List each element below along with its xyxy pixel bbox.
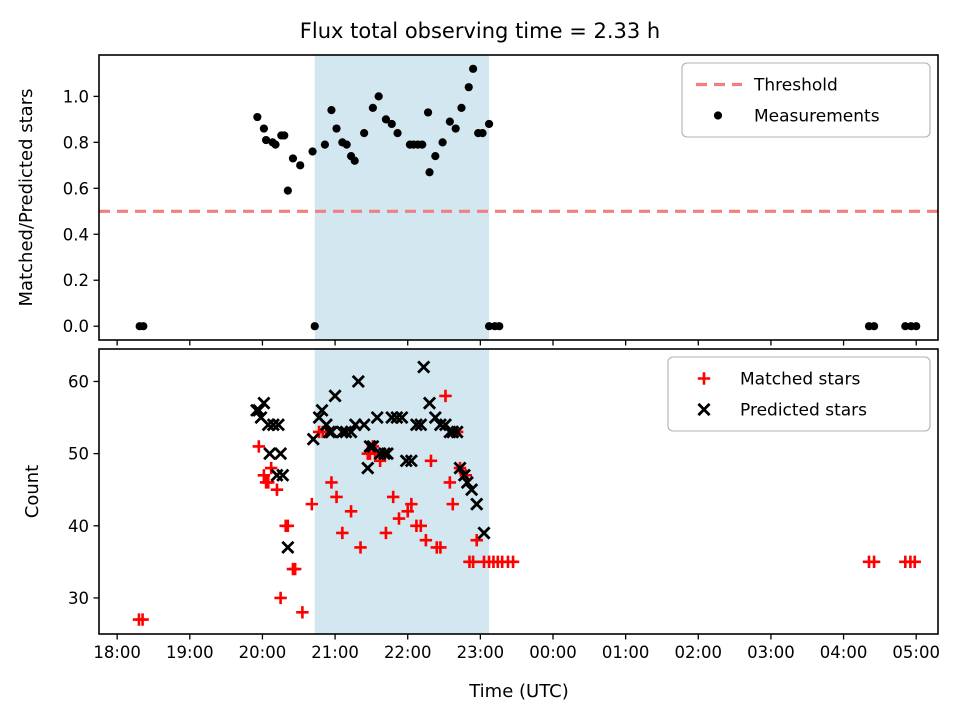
- y-axis-label: Matched/Predicted stars: [16, 89, 37, 307]
- data-point: [321, 141, 329, 149]
- data-point: [912, 322, 920, 330]
- data-point: [253, 113, 261, 121]
- x-tick-label: 23:00: [457, 643, 505, 662]
- data-point: [425, 168, 433, 176]
- y-tick-label: 0.0: [63, 317, 89, 336]
- legend-label: Measurements: [754, 107, 880, 127]
- y-tick-label: 0.6: [63, 179, 89, 198]
- data-point: [296, 161, 304, 169]
- shaded-observing-window: [315, 55, 489, 340]
- data-point: [478, 129, 486, 137]
- data-point: [343, 141, 351, 149]
- y-tick-label: 1.0: [63, 87, 89, 106]
- y-tick-label: 30: [68, 589, 89, 608]
- data-point: [393, 129, 401, 137]
- x-tick-label: 00:00: [529, 643, 577, 662]
- data-point: [375, 92, 383, 100]
- data-point: [332, 124, 340, 132]
- data-point: [446, 118, 454, 126]
- x-tick-label: 01:00: [602, 643, 650, 662]
- x-tick-label: 19:00: [166, 643, 214, 662]
- data-point: [438, 138, 446, 146]
- data-point: [485, 120, 493, 128]
- x-axis-label: Time (UTC): [468, 681, 569, 702]
- x-tick-label: 03:00: [747, 643, 795, 662]
- data-point: [388, 120, 396, 128]
- y-tick-label: 40: [68, 517, 89, 536]
- data-point: [424, 108, 432, 116]
- y-tick-label: 0.8: [63, 133, 89, 152]
- data-point: [465, 83, 473, 91]
- data-point: [452, 124, 460, 132]
- data-point: [418, 141, 426, 149]
- legend-label: Threshold: [753, 76, 838, 96]
- data-point: [139, 322, 147, 330]
- y-tick-label: 60: [68, 372, 89, 391]
- x-tick-label: 02:00: [675, 643, 723, 662]
- x-tick-label: 21:00: [311, 643, 359, 662]
- y-tick-label: 0.2: [63, 271, 89, 290]
- page-title: Flux total observing time = 2.33 h: [300, 19, 660, 43]
- x-tick-label: 22:00: [384, 643, 432, 662]
- x-tick-label: 05:00: [892, 643, 940, 662]
- data-point: [360, 129, 368, 137]
- legend-label: Matched stars: [740, 370, 860, 390]
- data-point: [469, 65, 477, 73]
- legend: Matched starsPredicted stars: [668, 357, 930, 431]
- x-tick-label: 18:00: [93, 643, 141, 662]
- data-point: [284, 187, 292, 195]
- data-point: [311, 322, 319, 330]
- x-tick-label: 20:00: [239, 643, 287, 662]
- data-point: [327, 106, 335, 114]
- figure-container: Flux total observing time = 2.33 h 0.00.…: [0, 0, 960, 720]
- data-point: [351, 157, 359, 165]
- data-point: [457, 104, 465, 112]
- data-point: [369, 104, 377, 112]
- data-point: [271, 141, 279, 149]
- data-point: [289, 154, 297, 162]
- y-tick-label: 50: [68, 445, 89, 464]
- y-tick-label: 0.4: [63, 225, 89, 244]
- data-point: [280, 131, 288, 139]
- data-point: [870, 322, 878, 330]
- data-point: [308, 147, 316, 155]
- chart-canvas: Flux total observing time = 2.33 h 0.00.…: [0, 0, 960, 720]
- x-tick-label: 04:00: [820, 643, 868, 662]
- data-point: [260, 124, 268, 132]
- legend: ThresholdMeasurements: [682, 63, 930, 137]
- legend-label: Predicted stars: [740, 401, 867, 421]
- data-point: [495, 322, 503, 330]
- y-axis-label: Count: [22, 465, 43, 518]
- data-point: [431, 152, 439, 160]
- legend-marker-measurements: [714, 111, 722, 119]
